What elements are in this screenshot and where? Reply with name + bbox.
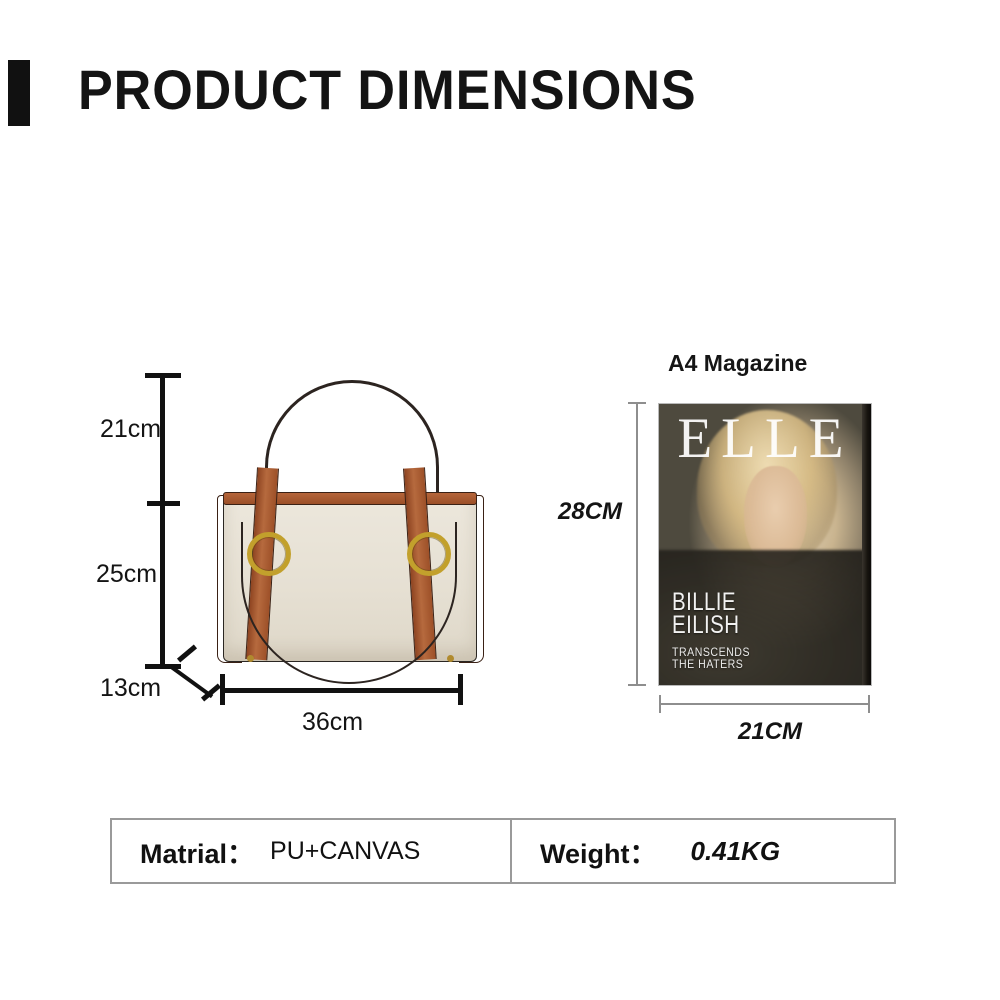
magazine-subline: TRANSCENDS THE HATERS: [672, 646, 750, 671]
magazine-illustration: ELLE BILLIE EILISH TRANSCENDS THE HATERS: [658, 403, 872, 686]
header-accent-bar: [8, 60, 30, 126]
bag-width-ruler-line: [222, 688, 462, 693]
bag-handle-height-label: 21cm: [100, 415, 161, 444]
magazine-subline-line1: TRANSCENDS: [672, 646, 750, 659]
bag-width-ruler-left-cap: [220, 674, 225, 705]
bag-depth-label: 13cm: [100, 674, 161, 703]
bag-right-foot-stud: [447, 655, 454, 662]
spec-table: Matrial： PU+CANVAS Weight： 0.41KG: [110, 818, 896, 884]
magazine-width-ruler-left-cap: [659, 695, 661, 713]
spec-cell-material: Matrial： PU+CANVAS: [112, 820, 512, 882]
magazine-height-ruler-top-cap: [628, 402, 646, 404]
infographic-canvas: PRODUCT DIMENSIONS 21cm 25cm 13cm 36cm A…: [0, 0, 1000, 1000]
bag-body-height-label: 25cm: [96, 560, 157, 589]
magazine-height-label: 28CM: [558, 498, 622, 526]
bag-vertical-ruler-mid-tick: [147, 501, 180, 506]
bag-width-ruler-right-cap: [458, 674, 463, 705]
page-title: PRODUCT DIMENSIONS: [78, 57, 697, 122]
spec-cell-weight: Weight： 0.41KG: [512, 820, 894, 882]
material-key-label: Matrial：: [140, 832, 254, 871]
magazine-caption: A4 Magazine: [668, 350, 807, 377]
weight-value: 0.41KG: [691, 836, 781, 867]
bag-vertical-ruler-top-cap: [145, 373, 181, 378]
magazine-headline: BILLIE EILISH: [672, 591, 739, 638]
magazine-height-ruler-line: [636, 403, 638, 686]
magazine-width-ruler-line: [660, 703, 870, 705]
magazine-subline-line2: THE HATERS: [672, 658, 750, 671]
magazine-spine: [862, 404, 871, 685]
magazine-masthead: ELLE: [667, 412, 862, 467]
magazine-headline-line2: EILISH: [672, 614, 739, 637]
magazine-width-label: 21CM: [738, 718, 802, 746]
magazine-height-ruler-bottom-cap: [628, 684, 646, 686]
bag-width-label: 36cm: [302, 708, 363, 737]
bag-left-foot-stud: [247, 655, 254, 662]
handbag-illustration: [195, 372, 505, 672]
magazine-cover: ELLE BILLIE EILISH TRANSCENDS THE HATERS: [658, 403, 872, 686]
weight-key-label: Weight：: [540, 832, 657, 871]
magazine-width-ruler-right-cap: [868, 695, 870, 713]
material-value: PU+CANVAS: [270, 837, 420, 866]
